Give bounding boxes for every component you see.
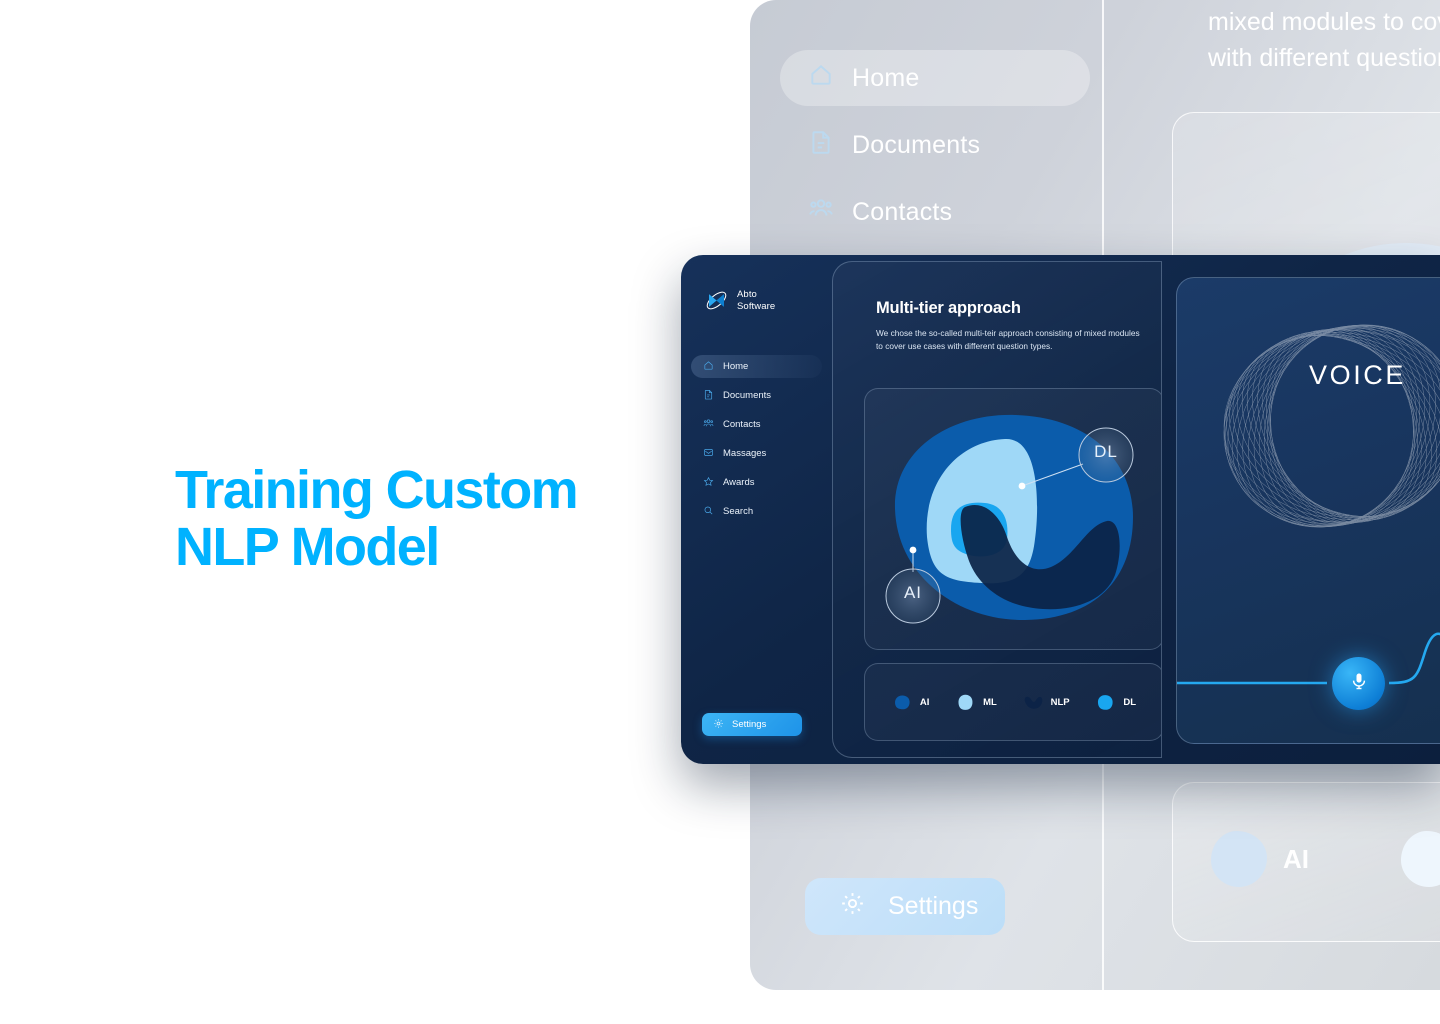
legend-swatch-ai [892,692,913,713]
document-icon [703,389,714,403]
gear-icon [713,718,724,732]
card-description: We chose the so-called multi-teir approa… [876,327,1148,352]
card-header: Multi-tier approach We chose the so-call… [876,299,1154,352]
abto-logo-icon [704,288,729,313]
envelope-icon [703,447,714,461]
sidebar-item-contacts[interactable]: Contacts [691,413,822,436]
background-legend-card: AI N [1172,782,1440,942]
sidebar-nav: Home Documents Contacts Massages [691,355,822,529]
diagram-legend: AI ML NLP DL [864,663,1162,741]
page-title-line1: Training Custom [175,462,695,519]
gear-icon [839,890,866,924]
background-legend-swatch [1211,831,1267,887]
legend-swatch-nlp [1023,692,1044,713]
connector-dot-ai [910,547,917,554]
legend-item-dl: DL [1095,692,1136,713]
brand-name-line2: Software [737,301,775,312]
background-nav-list: Home Documents Contacts [780,50,1090,251]
contacts-icon [703,418,714,432]
home-icon [808,62,834,95]
voice-label: VOICE [1309,360,1406,391]
brand-name: Abto Software [737,289,775,312]
background-description-text: mixed modules to cover use cases with di… [1208,4,1440,77]
background-nav-label: Documents [852,131,980,160]
brand-logo[interactable]: Abto Software [704,288,775,313]
background-settings-button[interactable]: Settings [805,878,1005,935]
settings-button[interactable]: Settings [702,713,802,736]
multi-tier-diagram: DL AI [864,388,1162,650]
home-icon [703,360,714,374]
page-title: Training Custom NLP Model [175,462,695,576]
card-title: Multi-tier approach [876,299,1154,318]
sidebar: Abto Software Home Documents [681,255,832,764]
sidebar-item-awards[interactable]: Awards [691,471,822,494]
search-icon [703,505,714,519]
sidebar-item-documents[interactable]: Documents [691,384,822,407]
microphone-icon [1349,671,1369,696]
legend-item-ml: ML [955,692,997,713]
legend-swatch-dl [1095,692,1116,713]
legend-item-nlp: NLP [1023,692,1070,713]
legend-swatch-ml [955,692,976,713]
content-card: Multi-tier approach We chose the so-call… [832,261,1162,758]
brand-name-line1: Abto [737,289,757,300]
sidebar-item-home[interactable]: Home [691,355,822,378]
sidebar-item-massages[interactable]: Massages [691,442,822,465]
app-window: Abto Software Home Documents [681,255,1440,764]
background-nav-item-documents[interactable]: Documents [780,117,1090,173]
legend-label-dl: DL [1123,697,1136,708]
sidebar-item-label: Massages [723,448,766,459]
background-nav-label: Home [852,64,920,93]
sidebar-item-label: Documents [723,390,771,401]
settings-label: Settings [732,719,766,730]
background-legend-swatch [1401,831,1440,887]
background-legend-label: AI [1283,844,1309,875]
background-legend-item-n: N [1401,831,1440,887]
sidebar-item-label: Awards [723,477,755,488]
star-icon [703,476,714,490]
contacts-icon [808,196,834,229]
background-nav-item-home[interactable]: Home [780,50,1090,106]
legend-label-ai: AI [920,697,930,708]
background-nav-item-contacts[interactable]: Contacts [780,184,1090,240]
legend-item-ai: AI [892,692,930,713]
background-nav-label: Contacts [852,198,952,227]
callout-label-dl: DL [1087,442,1125,462]
diagram-svg [865,389,1162,650]
voice-panel: VOICE [1176,277,1440,744]
background-settings-label: Settings [888,892,978,921]
microphone-button[interactable] [1332,657,1385,710]
sidebar-item-label: Home [723,361,748,372]
legend-label-ml: ML [983,697,997,708]
sidebar-item-search[interactable]: Search [691,500,822,523]
connector-dot-dl [1019,483,1026,490]
sidebar-item-label: Search [723,506,753,517]
voice-waveform-graphic [1177,278,1440,744]
callout-label-ai: AI [894,583,932,603]
document-icon [808,129,834,162]
background-legend-item-ai: AI [1211,831,1309,887]
page-title-line2: NLP Model [175,519,695,576]
sidebar-item-label: Contacts [723,419,761,430]
legend-label-nlp: NLP [1051,697,1070,708]
